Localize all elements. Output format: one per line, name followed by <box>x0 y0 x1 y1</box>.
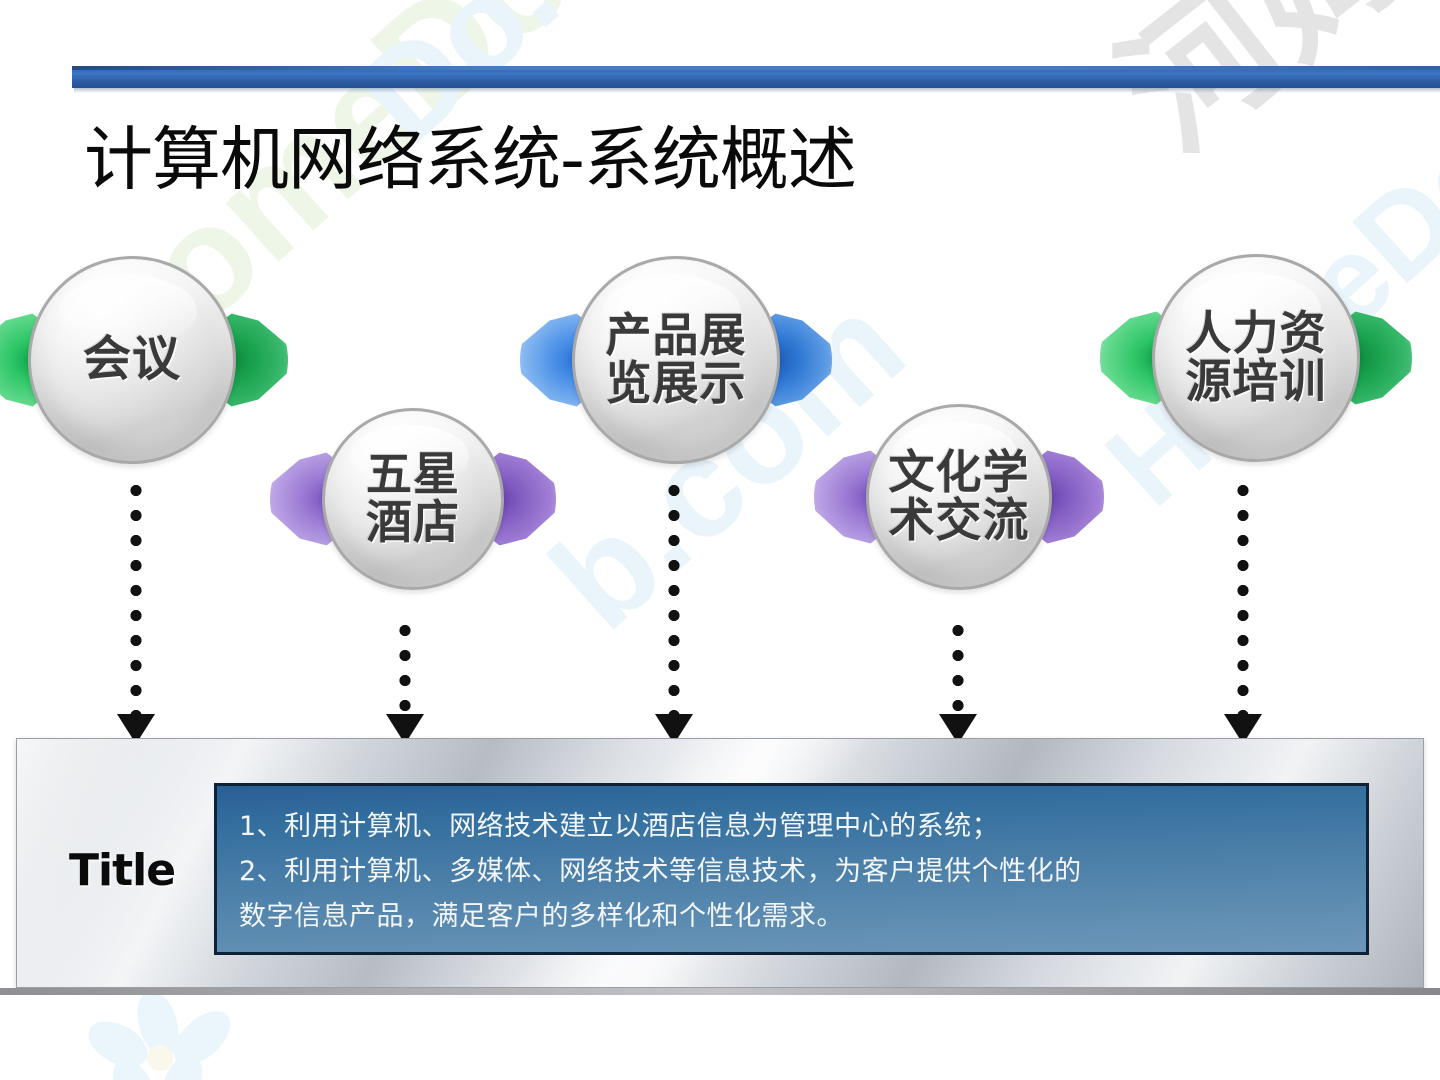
description-line: 1、利用计算机、网络技术建立以酒店信息为管理中心的系统； <box>239 804 1344 849</box>
bubble-node[interactable]: 文化学术交流 <box>866 404 1052 590</box>
dotted-arrow-icon <box>1230 478 1256 744</box>
watermark-chinese: 河姆渡 <box>1070 0 1440 189</box>
description-line: 2、利用计算机、多媒体、网络技术等信息技术，为客户提供个性化的 <box>239 849 1344 894</box>
bubble-node[interactable]: 五星酒店 <box>322 408 504 590</box>
bubble-label: 文化学术交流 <box>866 404 1052 590</box>
bottom-panel: Title 1、利用计算机、网络技术建立以酒店信息为管理中心的系统； 2、利用计… <box>16 738 1424 988</box>
bubble-label: 五星酒店 <box>322 408 504 590</box>
description-line: 数字信息产品，满足客户的多样化和个性化需求。 <box>239 894 1344 939</box>
bubble-label: 会议 <box>28 256 236 464</box>
dotted-arrow-icon <box>123 478 149 744</box>
page-title: 计算机网络系统-系统概述 <box>84 116 856 204</box>
bubble-label: 产品展览展示 <box>572 256 780 464</box>
flower-logo-watermark <box>64 988 264 1080</box>
bubble-node[interactable]: 产品展览展示 <box>572 256 780 464</box>
dotted-arrow-icon <box>392 618 418 744</box>
bubble-node[interactable]: 会议 <box>28 256 236 464</box>
header-accent-bar <box>72 66 1440 88</box>
bubble-node[interactable]: 人力资源培训 <box>1152 254 1360 462</box>
dotted-arrow-icon <box>945 618 971 744</box>
description-box: 1、利用计算机、网络技术建立以酒店信息为管理中心的系统； 2、利用计算机、多媒体… <box>214 783 1369 955</box>
footer-strip <box>0 988 1440 995</box>
panel-title: Title <box>69 845 175 896</box>
slide-canvas: HomeDo.com Do.com b.com HomeDo.com 河姆渡 计… <box>0 0 1440 1080</box>
header-accent-bar-shadow <box>74 88 1440 93</box>
bubble-label: 人力资源培训 <box>1152 254 1360 462</box>
dotted-arrow-icon <box>661 478 687 744</box>
